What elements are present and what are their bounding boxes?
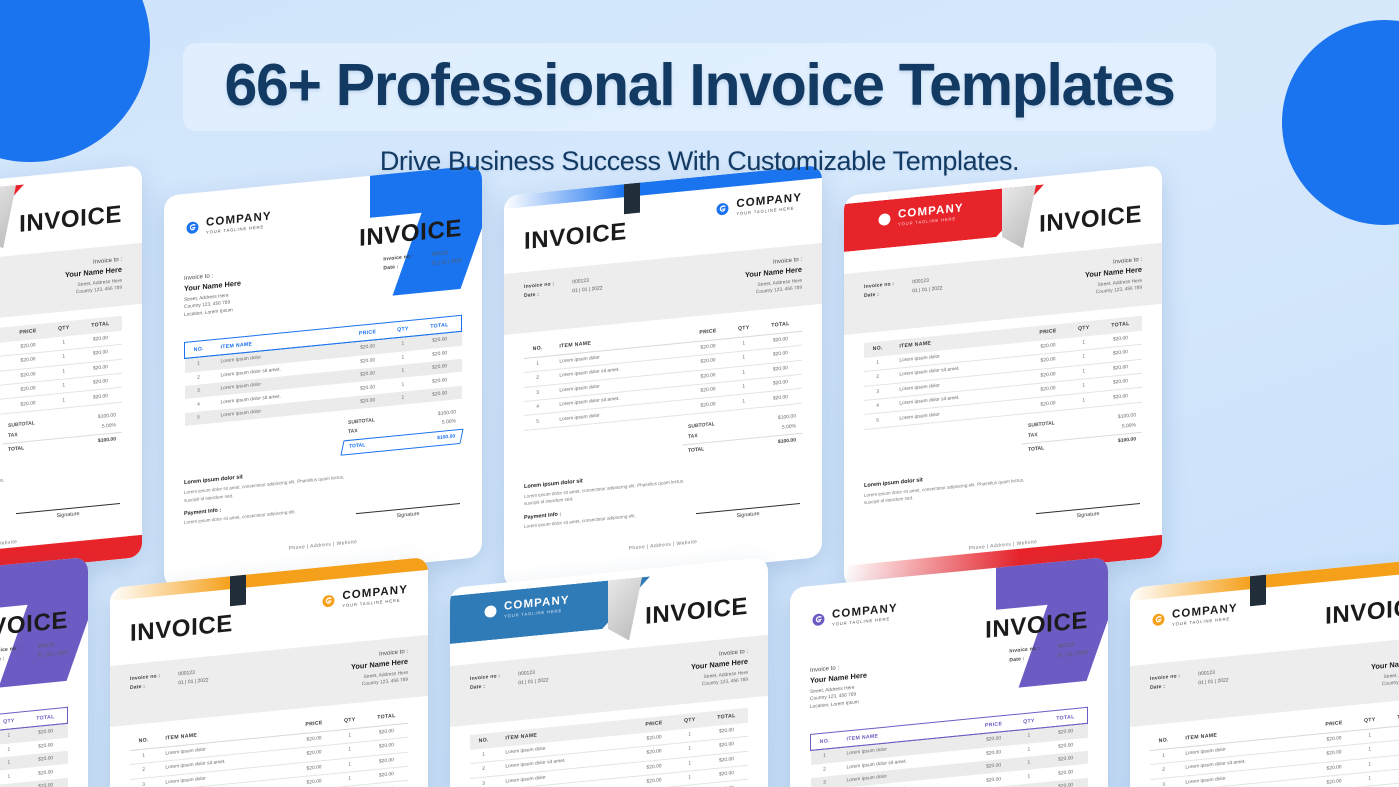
card-content: COMPANYYOUR TAGLINE HEREINVOICEInvoice n… [844,165,1162,588]
meta-labels: Invoice no :Date : [524,281,554,320]
cell-2: $20.00 [7,395,48,413]
cell-4: $20.00 [759,389,802,408]
tax-value: 5.00% [782,423,796,430]
invoice-table: NO.ITEM NAMEPRICEQTYTOTAL1Lorem ipsum do… [0,707,68,787]
bill-to-block: Invoice to :Your Name HereStreet, Addres… [184,270,241,319]
bill-to-address: Street, Address HereCountry 123, 456 789 [745,278,802,298]
bill-to-address: Street, Address HereCountry 123, 456 789 [65,278,122,298]
card-purple[interactable]: COMPANYYOUR TAGLINE HEREINVOICEInvoice t… [0,557,88,787]
card-content: COMPANYYOUR TAGLINE HEREINVOICEInvoice t… [790,557,1108,787]
subtotal-value: $100.00 [438,409,456,417]
total-value: $100.00 [1118,437,1136,445]
invoice-date-label: Date : [0,655,20,664]
cell-0: 3 [130,776,157,787]
signature-block: Signature [696,503,800,523]
invoice-heading: INVOICE [645,593,748,631]
tax-value: 5.00% [442,418,456,425]
tax-value: 5.00% [1122,422,1136,429]
cell-0: 5 [185,410,213,426]
signature-block: Signature [356,503,460,523]
column-header-4: TOTAL [1385,708,1399,728]
cell-3: 1 [729,393,759,410]
logo-mark-icon [876,210,893,229]
cell-0: 5 [864,412,891,429]
card-content: COMPANYYOUR TAGLINE HEREINVOICEInvoice n… [504,165,822,588]
invoice-table-body: 1Lorem ipsum dolor$20.001$20.002Lorem ip… [0,724,68,787]
cell-2: $20.00 [1027,395,1068,413]
card-footer: Phone | Address | Website [844,527,1162,564]
invoice-meta: Invoice no :Date :00012301 | 01 | 2022 [470,668,549,712]
bill-to-block: Invoice to :Your Name HereStreet, Addres… [351,649,408,690]
cell-4: $20.00 [79,388,122,407]
invoice-date-value: 01 | 01 | 2022 [518,677,548,686]
card-orange-right[interactable]: COMPANYYOUR TAGLINE HEREINVOICEInvoice n… [1130,557,1399,787]
invoice-heading: INVOICE [19,201,122,239]
card-row-bottom: COMPANYYOUR TAGLINE HEREINVOICEInvoice t… [0,588,1399,787]
cell-4: $20.00 [418,386,462,404]
invoice-no-value: 000123 [1198,668,1228,677]
invoice-heading: INVOICE [1039,201,1142,239]
invoice-date-label: Date : [130,682,160,691]
signature-label: Signature [356,507,460,523]
invoice-no-value: 000123 [432,249,462,258]
cell-3: 1 [388,390,418,406]
tax-label: TAX [1028,432,1038,439]
signature-label: Signature [16,507,120,523]
card-header: COMPANYYOUR TAGLINE HEREINVOICE [1150,573,1399,652]
card-orange[interactable]: COMPANYYOUR TAGLINE HEREINVOICEInvoice n… [110,557,428,787]
invoice-no-label: Invoice no : [130,673,160,682]
logo-mark-icon [1150,610,1167,629]
notes-block: Lorem ipsum dolor sitLorem ipsum dolor s… [184,463,356,526]
logo-text: COMPANYYOUR TAGLINE HERE [342,585,408,609]
total-label: TOTAL [688,447,704,455]
total-label: TOTAL [1028,446,1044,454]
bill-to-address: Street, Address HereCountry 123, 456 789… [184,291,241,319]
invoice-date-value: 01 | 01 | 2022 [178,677,208,686]
tax-value: 5.00% [102,422,116,429]
card-content: COMPANYYOUR TAGLINE HEREINVOICEInvoice t… [164,165,482,588]
invoice-date-value: 01 | 01 | 2022 [38,650,68,659]
meta-values: 00012301 | 01 | 2022 [518,668,548,707]
company-logo: COMPANYYOUR TAGLINE HERE [184,211,272,237]
cell-2: $20.00 [687,396,728,414]
cell-0: 3 [1150,776,1177,787]
page-subtitle: Drive Business Success With Customizable… [380,146,1019,177]
cell-0: 5 [524,413,551,430]
cell-0: 3 [811,775,839,787]
invoice-no-label: Invoice no : [864,281,894,290]
bill-to-address: Street, Address HereCountry 123, 456 789 [351,670,408,690]
card-content: COMPANYYOUR TAGLINE HEREINVOICEInvoice n… [110,557,428,787]
bill-to-block: Invoice to :Your Name HereStreet, Addres… [1085,257,1142,298]
totals-inner: SUBTOTAL$100.00TAX5.00%TOTAL$100.00 [2,410,122,457]
invoice-no-value: 000123 [38,641,68,650]
logo-text: COMPANYYOUR TAGLINE HERE [832,603,898,627]
card-steel-blue[interactable]: COMPANYYOUR TAGLINE HEREINVOICEInvoice n… [450,557,768,787]
invoice-no-label: Invoice no : [1150,673,1180,682]
meta-values: 00012301 | 01 | 2022 [1058,641,1088,662]
logo-text: COMPANYYOUR TAGLINE HERE [1172,603,1238,627]
invoice-date-value: 01 | 01 | 2022 [1058,650,1088,659]
invoice-no-value: 000123 [1058,641,1088,650]
signature-label: Signature [696,507,800,523]
invoice-no-label: Invoice no : [0,646,20,655]
cell-4: $20.00 [1099,388,1142,407]
tax-label: TAX [348,428,358,435]
invoice-date-label: Date : [1009,655,1039,664]
logo-mark-icon [184,218,201,237]
cell-0: 3 [470,775,497,787]
invoice-date-label: Date : [864,290,894,299]
signature-block: Signature [16,503,120,523]
logo-text: COMPANYYOUR TAGLINE HERE [736,193,802,217]
card-blue-tab[interactable]: COMPANYYOUR TAGLINE HEREINVOICEInvoice n… [504,165,822,588]
bill-to-label: Invoice to : [1371,649,1399,661]
meta-labels: Invoice no :Date : [1009,646,1039,667]
card-red-left[interactable]: COMPANYYOUR TAGLINE HEREINVOICEInvoice n… [0,165,142,588]
meta-values: 00012301 | 01 | 2022 [38,641,68,662]
invoice-meta: Invoice no :Date :00012301 | 01 | 2022 [524,276,603,320]
invoice-date-value: 01 | 01 | 2022 [572,285,602,294]
card-footer: Phone | Address | Website [504,527,822,564]
total-value: $100.00 [98,437,116,445]
invoice-no-value: 000123 [912,276,942,285]
bill-to-address: Street, Address HereCountry 123, 456 789 [1371,670,1399,690]
cell-3: 1 [49,392,79,409]
company-logo: COMPANYYOUR TAGLINE HERE [320,585,408,611]
invoice-table: NO.ITEM NAMEPRICEQTYTOTAL1Lorem ipsum do… [524,316,802,431]
card-content: COMPANYYOUR TAGLINE HEREINVOICEInvoice t… [0,557,88,787]
invoice-date-label: Date : [524,290,554,299]
totals-inner: SUBTOTAL$100.00TAX5.00%TOTAL$100.00 [1022,410,1142,457]
invoice-no-label: Invoice no : [470,673,500,682]
company-logo: COMPANYYOUR TAGLINE HERE [482,595,570,621]
card-content: COMPANYYOUR TAGLINE HEREINVOICEInvoice n… [1130,557,1399,787]
invoice-meta: Invoice no :Date :00012301 | 01 | 2022 [1150,668,1229,712]
meta-labels: Invoice no :Date : [1150,673,1180,712]
invoice-date-value: 01 | 01 | 2022 [432,258,462,267]
notes-block: Lorem ipsum dolor sitLorem ipsum dolor s… [0,466,16,507]
meta-values: 00012301 | 01 | 2022 [912,276,942,315]
total-value: $100.00 [778,438,796,446]
company-logo: COMPANYYOUR TAGLINE HERE [876,203,964,229]
invoice-meta: Invoice no :Date :00012301 | 01 | 2022 [0,641,68,667]
invoice-meta: Invoice no :Date :00012301 | 01 | 2022 [130,668,209,712]
meta-values: 00012301 | 01 | 2022 [1198,668,1228,707]
invoice-heading: INVOICE [130,610,233,648]
total-label: TOTAL [8,446,24,454]
cell-2: $20.00 [347,393,388,410]
logo-text: COMPANYYOUR TAGLINE HERE [504,595,570,619]
meta-labels: Invoice no :Date : [0,646,20,667]
invoice-meta: Invoice no :Date :00012301 | 01 | 2022 [864,276,943,320]
bill-to-address: Street, Address HereCountry 123, 456 789 [1085,278,1142,298]
totals-inner: SUBTOTAL$100.00TAX5.00%TOTAL$100.00 [682,411,802,458]
bill-to-block: Invoice to :Your Name HereStreet, Addres… [745,257,802,298]
card-row-top: COMPANYYOUR TAGLINE HEREINVOICEInvoice n… [0,196,1162,588]
bill-to-address: Street, Address HereCountry 123, 456 789… [810,683,867,711]
meta-labels: Invoice no :Date : [383,254,413,275]
cell-3: 1 [1069,392,1099,409]
invoice-no-label: Invoice no : [1009,646,1039,655]
tax-label: TAX [8,432,18,439]
card-footer: Phone | Address | Website [164,527,482,564]
bill-to-address: Street, Address HereCountry 123, 456 789 [691,670,748,690]
totals-block: SUBTOTAL$100.00TAX5.00%TOTAL$100.00 [0,410,122,472]
invoice-heading: INVOICE [524,218,627,256]
totals-inner: SUBTOTAL$100.00TAX5.00%TOTAL$100.00 [342,407,462,455]
notes-block: Lorem ipsum dolor sitLorem ipsum dolor s… [864,466,1036,507]
card-content: COMPANYYOUR TAGLINE HEREINVOICEInvoice n… [450,557,768,787]
card-blue-ribbon[interactable]: COMPANYYOUR TAGLINE HEREINVOICEInvoice t… [164,165,482,588]
invoice-date-label: Date : [383,263,413,272]
meta-labels: Invoice no :Date : [864,281,894,320]
title-plate: 66+ Professional Invoice Templates [183,43,1217,131]
subtotal-value: $100.00 [778,414,796,422]
meta-labels: Invoice no :Date : [470,673,500,712]
invoice-date-label: Date : [1150,682,1180,691]
invoice-meta: Invoice no :Date :00012301 | 01 | 2022 [1009,641,1088,667]
card-purple-right[interactable]: COMPANYYOUR TAGLINE HEREINVOICEInvoice t… [790,557,1108,787]
tax-label: TAX [688,433,698,440]
bill-to-block: Invoice to :Your Name HereStreet, Addres… [691,649,748,690]
page-header: 66+ Professional Invoice Templates Drive… [0,0,1399,185]
total-value: $100.00 [437,433,455,441]
card-red-right[interactable]: COMPANYYOUR TAGLINE HEREINVOICEInvoice n… [844,165,1162,588]
logo-text: COMPANYYOUR TAGLINE HERE [206,211,272,235]
note-body: Lorem ipsum dolor sit amet, consectetur … [0,475,16,507]
signature-label: Signature [1036,507,1140,523]
invoice-no-value: 000123 [178,668,208,677]
invoice-no-value: 000123 [572,276,602,285]
bill-to-block: Invoice to :Your Name HereStreet, Addres… [810,662,867,711]
card-content: COMPANYYOUR TAGLINE HEREINVOICEInvoice n… [0,165,142,588]
meta-values: 00012301 | 01 | 2022 [178,668,208,707]
meta-values: 00012301 | 01 | 2022 [572,276,602,315]
page-title: 66+ Professional Invoice Templates [225,55,1175,115]
logo-mark-icon [320,592,337,611]
company-logo: COMPANYYOUR TAGLINE HERE [714,193,802,219]
meta-labels: Invoice no :Date : [130,673,160,712]
invoice-no-label: Invoice no : [383,254,413,263]
invoice-table: NO.ITEM NAMEPRICEQTYTOTAL1Lorem ipsum do… [184,315,462,426]
logo-mark-icon [810,610,827,629]
logo-mark-icon [714,200,731,219]
invoice-heading: INVOICE [1325,593,1399,631]
invoice-date-value: 01 | 01 | 2022 [912,285,942,294]
bill-to-block: Invoice to :Your Name HereStreet, Addres… [65,257,122,298]
signature-block: Signature [1036,503,1140,523]
invoice-table: NO.ITEM NAMEPRICEQTYTOTAL1Lorem ipsum do… [864,316,1142,430]
invoice-meta: Invoice no :Date :00012301 | 01 | 2022 [383,249,462,275]
subtotal-value: $100.00 [98,413,116,421]
notes-block: Lorem ipsum dolor sitLorem ipsum dolor s… [524,467,696,530]
invoice-date-label: Date : [470,682,500,691]
total-label: TOTAL [349,442,365,450]
invoice-date-value: 01 | 01 | 2022 [1198,677,1228,686]
subtotal-value: $100.00 [1118,413,1136,421]
company-logo: COMPANYYOUR TAGLINE HERE [810,603,898,629]
invoice-no-label: Invoice no : [524,281,554,290]
invoice-no-value: 000123 [518,668,548,677]
logo-text: COMPANYYOUR TAGLINE HERE [898,203,964,227]
logo-mark-icon [482,602,499,621]
company-logo: COMPANYYOUR TAGLINE HERE [1150,603,1238,629]
meta-values: 00012301 | 01 | 2022 [432,249,462,270]
bill-to-block: Invoice to :Your Name HereStreet, Addres… [1371,649,1399,690]
